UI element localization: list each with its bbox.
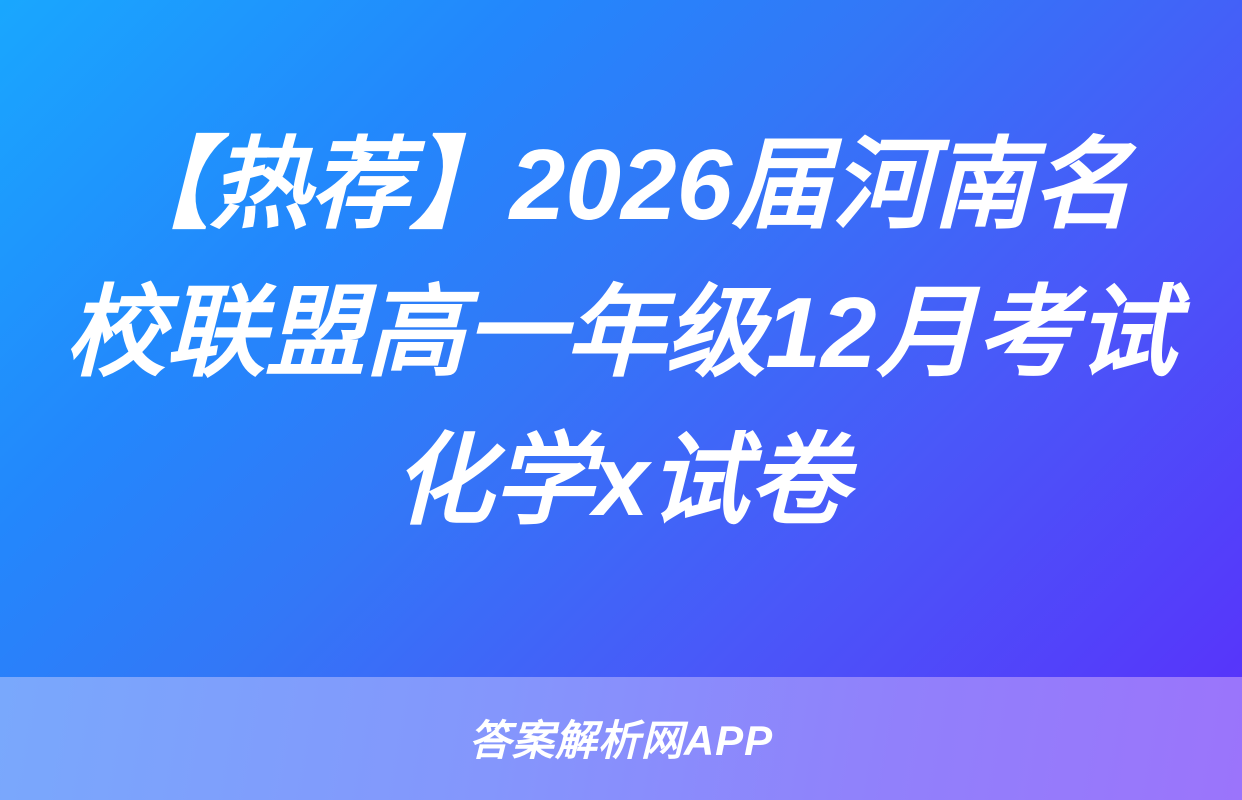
poster-canvas: 【热荐】2026届河南名 校联盟高一年级12月考试 化学x试卷 答案解析网APP xyxy=(0,0,1242,800)
title-line-3: 化学x试卷 xyxy=(40,407,1202,555)
app-watermark-label: 答案解析网APP xyxy=(469,717,773,765)
footer-watermark-band: 答案解析网APP xyxy=(0,677,1242,800)
title-line-2: 校联盟高一年级12月考试 xyxy=(40,259,1202,407)
title-line-1: 【热荐】2026届河南名 xyxy=(40,111,1202,259)
title-block: 【热荐】2026届河南名 校联盟高一年级12月考试 化学x试卷 xyxy=(0,0,1242,677)
